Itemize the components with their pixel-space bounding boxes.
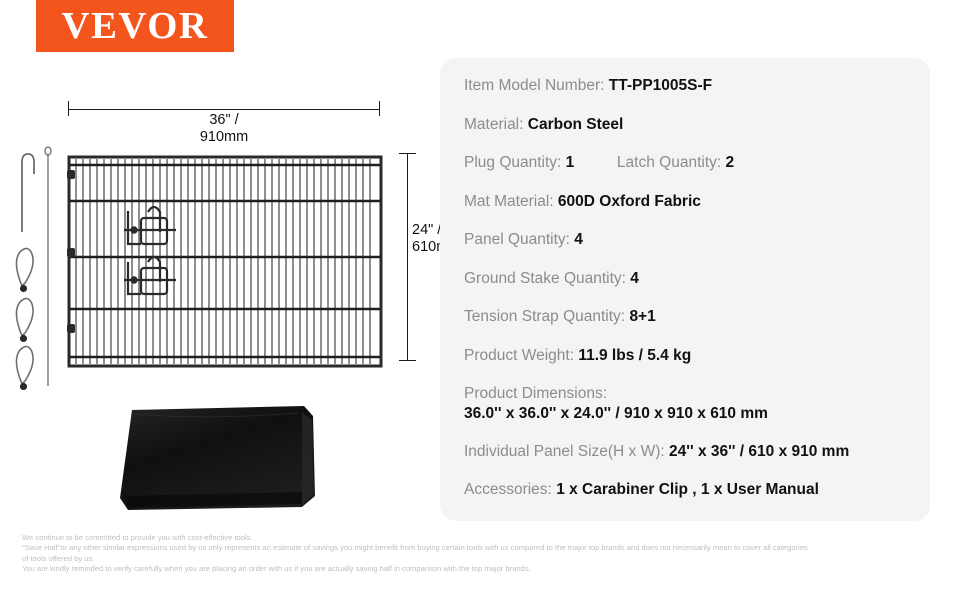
spec-label-secondary: Latch Quantity: — [617, 154, 721, 171]
spec-value: 11.9 lbs / 5.4 kg — [578, 347, 691, 364]
spec-label: Plug Quantity: — [464, 154, 561, 171]
spec-label: Ground Stake Quantity: — [464, 270, 626, 287]
spec-label: Accessories: — [464, 481, 552, 498]
disclaimer-line-1: We continue to be committed to provide y… — [22, 533, 952, 543]
spec-label: Mat Material: — [464, 193, 554, 210]
oxford-fabric-mat-illustration — [116, 400, 324, 515]
spec-label: Item Model Number: — [464, 77, 604, 94]
ground-stakes-illustration — [8, 140, 58, 390]
brand-wordmark: VEVOR — [62, 7, 209, 45]
vevor-logo: VEVOR — [36, 0, 234, 52]
spec-value: Carbon Steel — [528, 116, 624, 133]
spec-row-product-weight: Product Weight: 11.9 lbs / 5.4 kg — [440, 346, 930, 366]
spec-row-tension-strap-quantity: Tension Strap Quantity: 8+1 — [440, 307, 930, 327]
spec-label: Product Dimensions: — [464, 385, 607, 402]
spec-row-item-model-number: Item Model Number: TT-PP1005S-F — [440, 76, 930, 96]
spec-row-ground-stake-quantity: Ground Stake Quantity: 4 — [440, 269, 930, 289]
spec-label: Material: — [464, 116, 523, 133]
spec-value: 4 — [574, 231, 583, 248]
spec-row-individual-panel-size: Individual Panel Size(H x W): 24'' x 36'… — [440, 442, 930, 462]
spec-value: 4 — [630, 270, 639, 287]
specification-panel: Item Model Number: TT-PP1005S-F Material… — [440, 58, 930, 521]
wire-crate-panel-illustration — [66, 154, 384, 369]
width-dimension-text: 36" / 910mm — [194, 112, 254, 146]
dimension-line — [407, 153, 408, 361]
spec-label: Product Weight: — [464, 347, 574, 364]
spec-value: TT-PP1005S-F — [609, 77, 712, 94]
spec-row-product-dimensions: Product Dimensions: 36.0'' x 36.0'' x 24… — [440, 384, 930, 423]
spec-row-panel-quantity: Panel Quantity: 4 — [440, 230, 930, 250]
spec-value-secondary: 2 — [726, 154, 735, 171]
spec-value: 1 — [566, 154, 575, 171]
spec-label: Individual Panel Size(H x W): — [464, 443, 665, 460]
product-figure: 36" / 910mm 24" / 610mm — [0, 60, 430, 530]
spec-label: Panel Quantity: — [464, 231, 570, 248]
disclaimer-line-3: of tools offered by us. — [22, 554, 952, 564]
spec-value: 24'' x 36'' / 610 x 910 mm — [669, 443, 849, 460]
spec-row-material: Material: Carbon Steel — [440, 115, 930, 135]
spec-row-mat-material: Mat Material: 600D Oxford Fabric — [440, 192, 930, 212]
footer-disclaimer: We continue to be committed to provide y… — [22, 533, 952, 575]
spec-value: 8+1 — [629, 308, 655, 325]
spec-row-plug-and-latch-quantity: Plug Quantity: 1 Latch Quantity: 2 — [440, 153, 930, 173]
spec-value: 600D Oxford Fabric — [558, 193, 701, 210]
spec-value: 1 x Carabiner Clip , 1 x User Manual — [556, 481, 819, 498]
width-dimension-label: 36" / 910mm — [68, 95, 380, 146]
spec-row-accessories: Accessories: 1 x Carabiner Clip , 1 x Us… — [440, 480, 930, 500]
spec-value: 36.0'' x 36.0'' x 24.0'' / 910 x 910 x 6… — [464, 404, 906, 423]
disclaimer-line-2: "Save Half"or any other similar expressi… — [22, 543, 952, 553]
spec-label: Tension Strap Quantity: — [464, 308, 625, 325]
dimension-end-cap-bottom — [399, 360, 416, 361]
disclaimer-line-4: You are kindly reminded to verify carefu… — [22, 564, 952, 574]
dimension-end-cap-top — [399, 153, 416, 154]
